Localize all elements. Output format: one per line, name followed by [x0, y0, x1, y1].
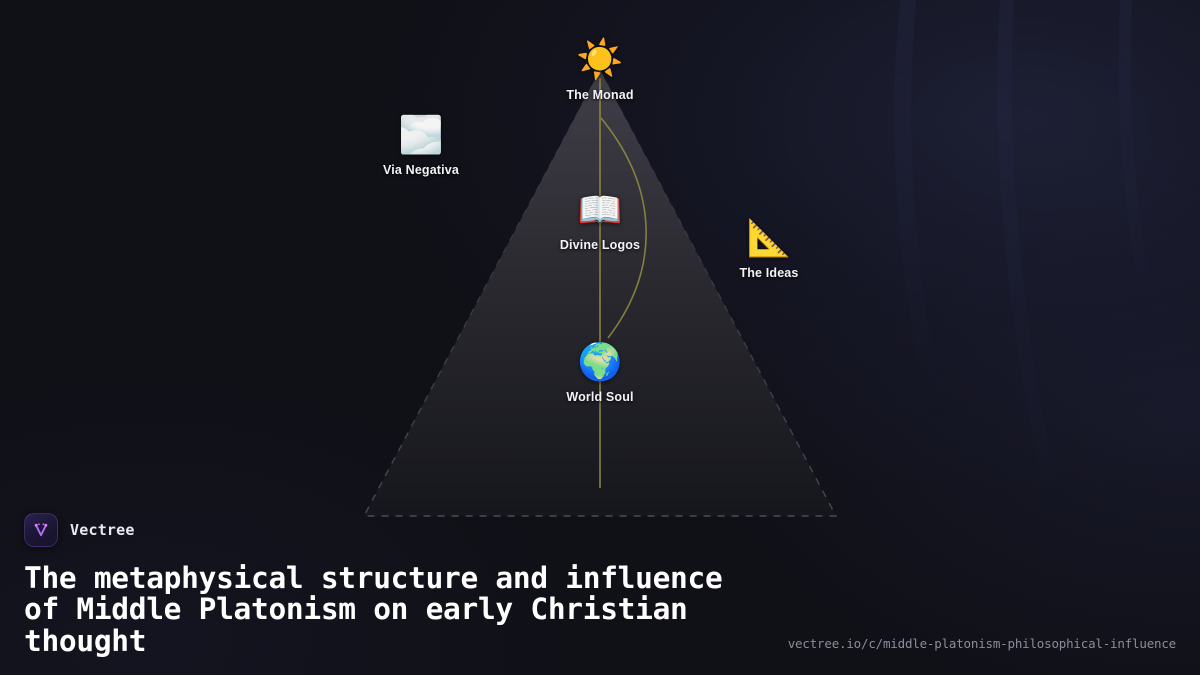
page-title: The metaphysical structure and influence… [24, 563, 744, 658]
graph-node-the-ideas[interactable]: 📐 The Ideas [699, 216, 839, 280]
graph-node-divine-logos[interactable]: 📖 Divine Logos [530, 188, 670, 252]
sun-icon: ☀️ [530, 38, 670, 82]
graph-node-label: Via Negativa [351, 164, 491, 177]
graph-node-label: The Ideas [699, 267, 839, 280]
globe-earth-icon: 🌍 [530, 340, 670, 384]
brand-name: Vectree [70, 521, 135, 539]
graph-node-the-monad[interactable]: ☀️ The Monad [530, 38, 670, 102]
open-book-icon: 📖 [530, 188, 670, 232]
brand-lockup[interactable]: Vectree [24, 513, 1176, 547]
source-url: vectree.io/c/middle-platonism-philosophi… [788, 636, 1176, 651]
graph-node-label: World Soul [530, 391, 670, 404]
graph-node-label: The Monad [530, 89, 670, 102]
graph-node-world-soul[interactable]: 🌍 World Soul [530, 340, 670, 404]
triangular-ruler-icon: 📐 [699, 216, 839, 260]
fog-cloud-icon: 🌫️ [351, 113, 491, 157]
vectree-logo-icon [24, 513, 58, 547]
graph-node-via-negativa[interactable]: 🌫️ Via Negativa [351, 113, 491, 177]
share-card-canvas: ☀️ The Monad 🌫️ Via Negativa 📖 Divine Lo… [0, 0, 1200, 675]
graph-node-label: Divine Logos [530, 239, 670, 252]
